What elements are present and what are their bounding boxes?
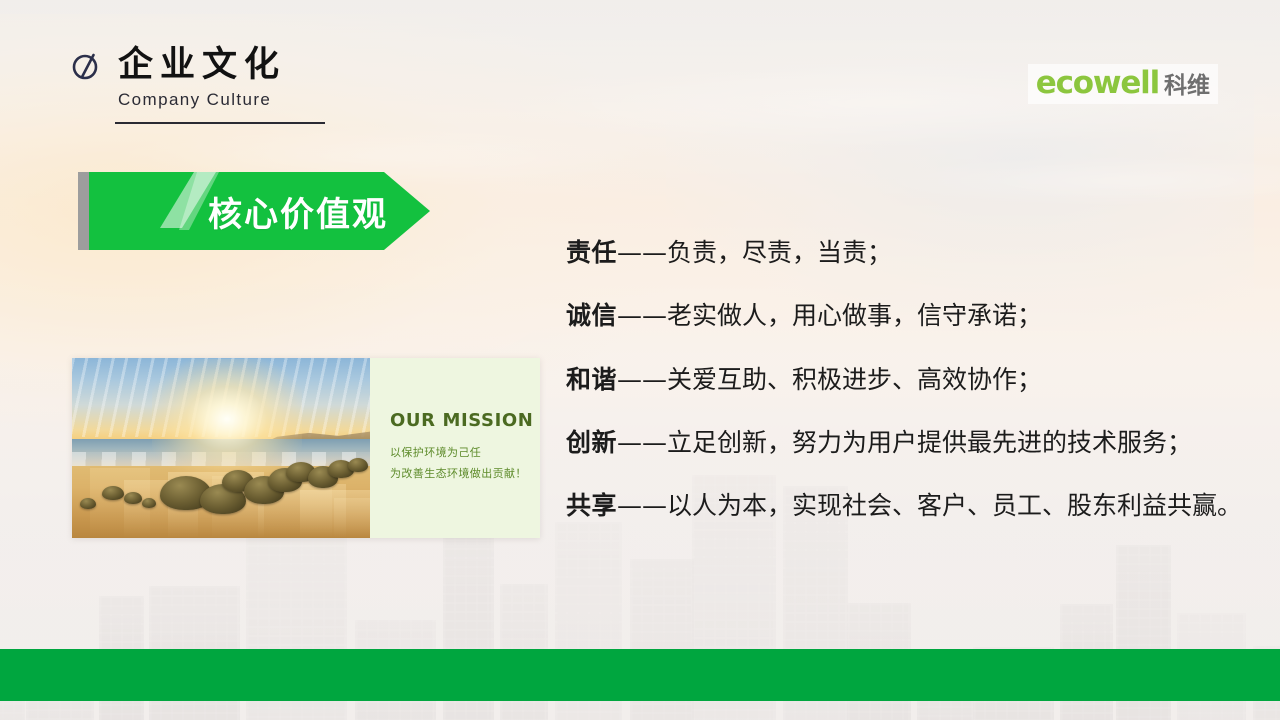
banner-label: 核心价值观 <box>208 172 388 250</box>
mission-text-panel: OUR MISSION 以保护环境为己任 为改善生态环境做出贡献！ <box>370 358 540 538</box>
value-key: 责任 <box>566 238 617 267</box>
circle-slash-icon <box>70 50 102 82</box>
value-key: 共享 <box>566 491 617 520</box>
page-header: 企业文化 Company Culture <box>70 48 325 124</box>
value-key: 诚信 <box>566 301 617 330</box>
slide-canvas: 企业文化 Company Culture ecowell 科维 核心价值观 OU… <box>0 0 1280 720</box>
photo-boulder <box>102 486 124 500</box>
mission-photo <box>72 358 370 538</box>
brand-logo: ecowell 科维 <box>1028 64 1218 104</box>
photo-boulder <box>142 498 156 508</box>
value-line: 诚信——老实做人，用心做事，信守承诺； <box>566 303 1266 329</box>
photo-boulder <box>124 492 142 504</box>
page-title: 企业文化 <box>118 48 286 83</box>
brand-name-latin: ecowell <box>1036 68 1159 99</box>
value-body: ——关爱互助、积极进步、高效协作； <box>617 365 1042 394</box>
banner-grip-bar <box>78 172 89 250</box>
photo-sun <box>152 359 302 479</box>
value-body: ——以人为本，实现社会、客户、员工、股东利益共赢。 <box>617 491 1242 520</box>
mission-card: OUR MISSION 以保护环境为己任 为改善生态环境做出贡献！ <box>72 358 540 538</box>
photo-sun-ray <box>334 498 370 538</box>
value-line: 责任——负责，尽责，当责； <box>566 240 1266 266</box>
value-key: 和谐 <box>566 365 617 394</box>
photo-boulder <box>348 458 368 472</box>
value-line: 和谐——关爱互助、积极进步、高效协作； <box>566 367 1266 393</box>
value-body: ——立足创新，努力为用户提供最先进的技术服务； <box>617 428 1192 457</box>
value-line: 创新——立足创新，努力为用户提供最先进的技术服务； <box>566 430 1266 456</box>
section-banner: 核心价值观 <box>78 172 430 250</box>
footer-bar <box>0 649 1280 701</box>
value-key: 创新 <box>566 428 617 457</box>
photo-boulder <box>80 498 96 509</box>
mission-title: OUR MISSION <box>390 410 540 431</box>
header-divider <box>115 122 325 124</box>
brand-name-cn: 科维 <box>1164 75 1210 98</box>
core-values-list: 责任——负责，尽责，当责；诚信——老实做人，用心做事，信守承诺；和谐——关爱互助… <box>566 240 1266 519</box>
mission-line-2: 为改善生态环境做出贡献！ <box>390 464 540 485</box>
value-body: ——老实做人，用心做事，信守承诺； <box>617 301 1042 330</box>
mission-line-1: 以保护环境为己任 <box>390 443 540 464</box>
page-subtitle: Company Culture <box>118 90 325 110</box>
value-line: 共享——以人为本，实现社会、客户、员工、股东利益共赢。 <box>566 493 1266 519</box>
value-body: ——负责，尽责，当责； <box>617 238 892 267</box>
